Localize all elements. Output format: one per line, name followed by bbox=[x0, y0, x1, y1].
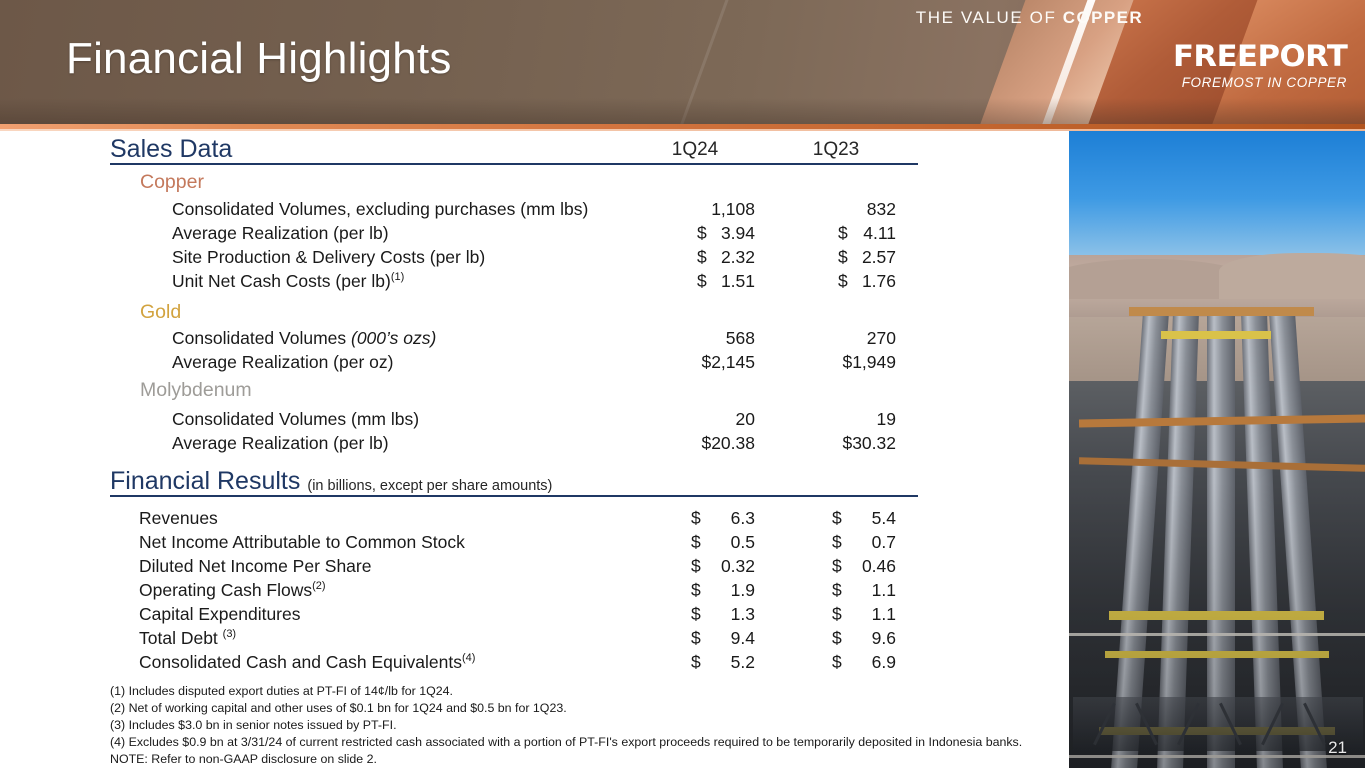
row-value-1q23: 19 bbox=[776, 407, 896, 431]
table-row: Site Production & Delivery Costs (per lb… bbox=[0, 245, 925, 269]
row-value-1q23: 832 bbox=[776, 197, 896, 221]
footnote-1: (1) Includes disputed export duties at P… bbox=[110, 683, 1065, 700]
footnotes: (1) Includes disputed export duties at P… bbox=[110, 683, 1065, 768]
row-value-1q23: $1.1 bbox=[776, 602, 896, 626]
footnote-marker: (3) bbox=[223, 628, 236, 640]
column-header-1q23: 1Q23 bbox=[776, 139, 896, 161]
row-label: Consolidated Volumes (mm lbs) bbox=[172, 407, 419, 431]
table-row: Average Realization (per lb) $3.94 $4.11 bbox=[0, 221, 925, 245]
banner-tagline-light: THE VALUE OF bbox=[916, 8, 1063, 27]
banner-tagline: THE VALUE OF COPPER bbox=[916, 8, 1143, 28]
row-value-1q24: $1.9 bbox=[635, 578, 755, 602]
table-row: Capital Expenditures $1.3 $1.1 bbox=[0, 602, 925, 626]
mine-photo: 21 bbox=[1069, 131, 1365, 768]
row-value-1q24: $0.5 bbox=[635, 530, 755, 554]
row-value-1q23: $0.46 bbox=[776, 554, 896, 578]
financial-results-rule bbox=[110, 495, 918, 497]
table-row: Operating Cash Flows(2) $1.9 $1.1 bbox=[0, 578, 925, 602]
table-row: Consolidated Cash and Cash Equivalents(4… bbox=[0, 650, 925, 674]
row-value-1q24: $3.94 bbox=[635, 221, 755, 245]
row-label: Average Realization (per oz) bbox=[172, 350, 393, 374]
row-value-1q24: $5.2 bbox=[635, 650, 755, 674]
row-label: Operating Cash Flows(2) bbox=[139, 578, 326, 602]
footnote-4: (4) Excludes $0.9 bn at 3/31/24 of curre… bbox=[110, 734, 1065, 751]
slide-content: Sales Data 1Q24 1Q23 Copper Consolidated… bbox=[0, 131, 1069, 768]
row-value-1q24: 1,108 bbox=[635, 197, 755, 221]
footnote-2: (2) Net of working capital and other use… bbox=[110, 700, 1065, 717]
table-row: Diluted Net Income Per Share $0.32 $0.46 bbox=[0, 554, 925, 578]
row-value-1q24: $1.51 bbox=[635, 269, 755, 293]
logo-tagline: FOREMOST IN COPPER bbox=[1182, 76, 1347, 90]
column-header-1q24: 1Q24 bbox=[635, 139, 755, 161]
row-label: Capital Expenditures bbox=[139, 602, 300, 626]
row-value-1q24: $9.4 bbox=[635, 626, 755, 650]
row-value-1q23: $6.9 bbox=[776, 650, 896, 674]
row-label: Net Income Attributable to Common Stock bbox=[139, 530, 465, 554]
table-row: Average Realization (per oz) $2,145 $1,9… bbox=[0, 350, 925, 374]
row-label: Site Production & Delivery Costs (per lb… bbox=[172, 245, 485, 269]
row-value-1q23: $9.6 bbox=[776, 626, 896, 650]
row-value-1q23: $2.57 bbox=[776, 245, 896, 269]
table-row: Average Realization (per lb) $20.38 $30.… bbox=[0, 431, 925, 455]
row-label: Consolidated Volumes (000’s ozs) bbox=[172, 326, 436, 350]
banner-tagline-bold: COPPER bbox=[1063, 8, 1143, 27]
table-row: Total Debt (3) $9.4 $9.6 bbox=[0, 626, 925, 650]
page-number: 21 bbox=[1328, 738, 1347, 758]
table-row: Net Income Attributable to Common Stock … bbox=[0, 530, 925, 554]
row-value-1q24: $0.32 bbox=[635, 554, 755, 578]
page-title: Financial Highlights bbox=[66, 36, 452, 82]
row-value-1q23: $5.4 bbox=[776, 506, 896, 530]
table-row: Consolidated Volumes, excluding purchase… bbox=[0, 197, 925, 221]
row-value-1q24: $6.3 bbox=[635, 506, 755, 530]
sales-data-title: Sales Data bbox=[110, 137, 232, 162]
row-value-1q23: $1,949 bbox=[776, 350, 896, 374]
group-molybdenum-label: Molybdenum bbox=[140, 381, 252, 401]
row-label: Average Realization (per lb) bbox=[172, 221, 389, 245]
banner-bottom-shade bbox=[0, 98, 1365, 124]
row-label: Diluted Net Income Per Share bbox=[139, 554, 371, 578]
footnote-3: (3) Includes $3.0 bn in senior notes iss… bbox=[110, 717, 1065, 734]
header-banner: THE VALUE OF COPPER FREEPORT FOREMOST IN… bbox=[0, 0, 1365, 124]
financial-results-title: Financial Results bbox=[110, 469, 300, 494]
logo-wordmark: FREEPORT bbox=[1172, 42, 1347, 71]
row-value-1q24: $1.3 bbox=[635, 602, 755, 626]
photo-vignette bbox=[1069, 131, 1365, 768]
row-label: Total Debt (3) bbox=[139, 626, 236, 650]
sales-data-heading: Sales Data bbox=[110, 137, 232, 162]
row-label: Average Realization (per lb) bbox=[172, 431, 389, 455]
group-copper-label: Copper bbox=[140, 173, 204, 193]
table-row: Unit Net Cash Costs (per lb)(1) $1.51 $1… bbox=[0, 269, 925, 293]
footnote-note: NOTE: Refer to non-GAAP disclosure on sl… bbox=[110, 751, 1065, 768]
group-gold-label: Gold bbox=[140, 303, 181, 323]
financial-results-subtitle: (in billions, except per share amounts) bbox=[307, 479, 552, 495]
footnote-marker: (2) bbox=[312, 580, 325, 592]
row-value-1q23: $1.76 bbox=[776, 269, 896, 293]
row-value-1q23: 270 bbox=[776, 326, 896, 350]
footnote-marker: (1) bbox=[391, 271, 404, 283]
row-value-1q24: 20 bbox=[635, 407, 755, 431]
row-value-1q23: $30.32 bbox=[776, 431, 896, 455]
slide: THE VALUE OF COPPER FREEPORT FOREMOST IN… bbox=[0, 0, 1365, 768]
table-row: Revenues $6.3 $5.4 bbox=[0, 506, 925, 530]
row-label: Revenues bbox=[139, 506, 218, 530]
sales-data-rule bbox=[110, 163, 918, 165]
row-value-1q23: $0.7 bbox=[776, 530, 896, 554]
table-row: Consolidated Volumes (mm lbs) 20 19 bbox=[0, 407, 925, 431]
footnote-marker: (4) bbox=[462, 652, 475, 664]
row-label: Consolidated Volumes, excluding purchase… bbox=[172, 197, 588, 221]
row-label: Consolidated Cash and Cash Equivalents(4… bbox=[139, 650, 475, 674]
row-value-1q23: $4.11 bbox=[776, 221, 896, 245]
row-label: Unit Net Cash Costs (per lb)(1) bbox=[172, 269, 404, 293]
table-row: Consolidated Volumes (000’s ozs) 568 270 bbox=[0, 326, 925, 350]
row-value-1q24: 568 bbox=[635, 326, 755, 350]
freeport-logo: FREEPORT FOREMOST IN COPPER bbox=[1182, 42, 1347, 90]
row-value-1q24: $20.38 bbox=[635, 431, 755, 455]
row-value-1q24: $2,145 bbox=[635, 350, 755, 374]
row-value-1q24: $2.32 bbox=[635, 245, 755, 269]
financial-results-heading: Financial Results (in billions, except p… bbox=[110, 469, 552, 494]
row-value-1q23: $1.1 bbox=[776, 578, 896, 602]
